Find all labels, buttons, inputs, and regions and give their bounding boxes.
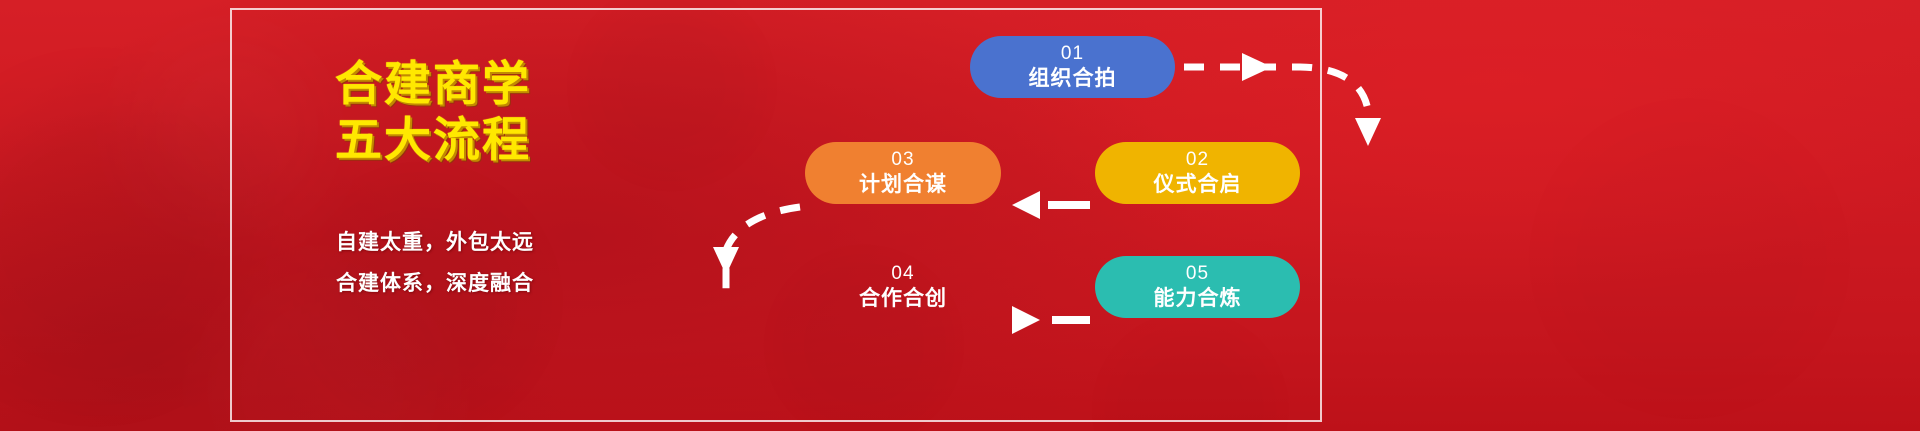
stage-03-label: 计划合谋 <box>859 171 947 198</box>
headline-line-1: 合建商学 <box>318 56 548 112</box>
subtitle-line-2: 合建体系，深度融合 <box>310 263 560 304</box>
process-stage-01[interactable]: 01 组织合拍 <box>970 36 1175 98</box>
headline-line-2: 五大流程 <box>318 112 548 168</box>
process-stage-02[interactable]: 02 仪式合启 <box>1095 142 1300 204</box>
arrowhead-into-02 <box>1355 118 1381 146</box>
stage-04-number: 04 <box>891 263 914 285</box>
stage-02-label: 仪式合启 <box>1154 171 1242 198</box>
stage-02-number: 02 <box>1186 149 1209 171</box>
stage-01-number: 01 <box>1061 43 1084 65</box>
process-stage-03[interactable]: 03 计划合谋 <box>805 142 1001 204</box>
subtitle-line-1: 自建太重，外包太远 <box>310 222 560 263</box>
stage-05-label: 能力合炼 <box>1154 285 1242 312</box>
stage-01-label: 组织合拍 <box>1029 65 1117 92</box>
stage-04-label: 合作合创 <box>859 285 947 312</box>
process-stage-04[interactable]: 04 合作合创 <box>805 256 1001 318</box>
promo-banner: 合建商学 五大流程 自建太重，外包太远 合建体系，深度融合 01 组织合拍 02… <box>0 0 1920 431</box>
process-stage-05[interactable]: 05 能力合炼 <box>1095 256 1300 318</box>
stage-03-number: 03 <box>891 149 914 171</box>
stage-05-number: 05 <box>1186 263 1209 285</box>
page-title: 合建商学 五大流程 <box>318 56 548 168</box>
subtitle: 自建太重，外包太远 合建体系，深度融合 <box>310 222 560 304</box>
